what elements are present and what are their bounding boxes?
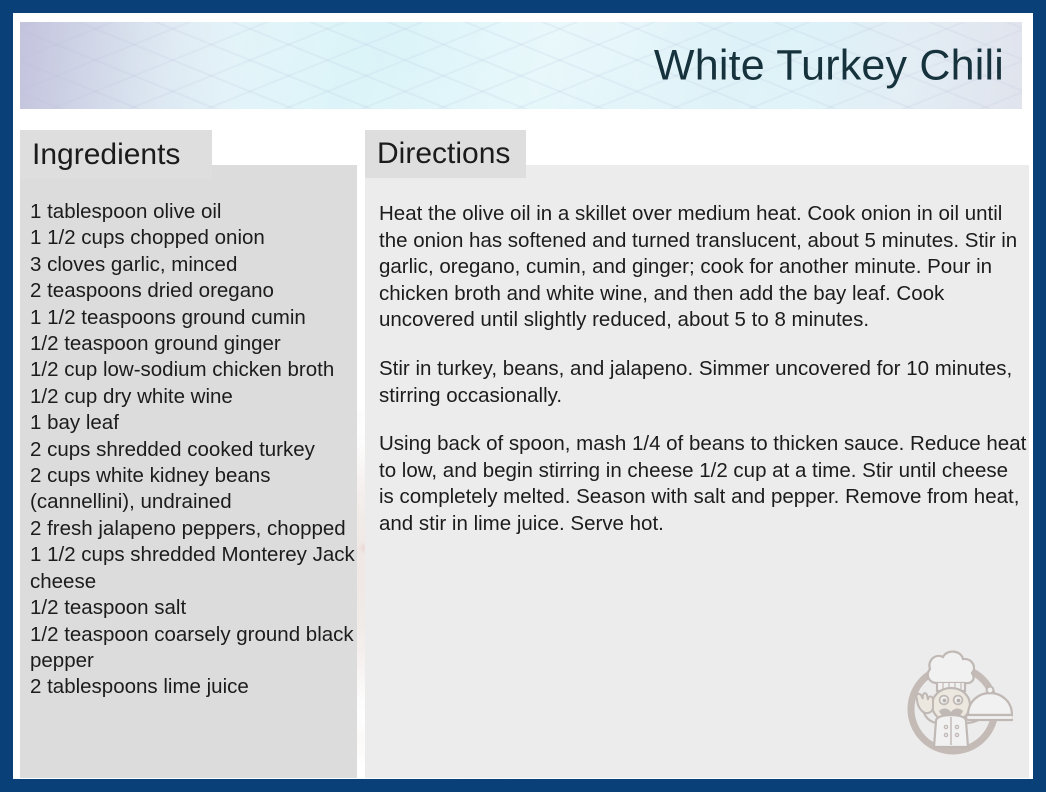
ingredient-item: 1 tablespoon olive oil bbox=[30, 199, 360, 225]
directions-text: Heat the olive oil in a skillet over med… bbox=[379, 201, 1027, 538]
ingredients-list: 1 tablespoon olive oil1 1/2 cups chopped… bbox=[30, 199, 360, 701]
ingredients-heading-box: Ingredients bbox=[20, 130, 212, 179]
page-title: White Turkey Chili bbox=[654, 41, 1004, 90]
direction-paragraph: Using back of spoon, mash 1/4 of beans t… bbox=[379, 431, 1027, 537]
direction-paragraph: Stir in turkey, beans, and jalapeno. Sim… bbox=[379, 356, 1027, 409]
ingredient-item: 1/2 teaspoon ground ginger bbox=[30, 331, 360, 357]
ingredient-item: 1 1/2 teaspoons ground cumin bbox=[30, 305, 360, 331]
ingredient-item: 3 cloves garlic, minced bbox=[30, 252, 360, 278]
recipe-card: White Turkey Chili Ingredients Direction… bbox=[0, 0, 1046, 792]
ingredient-item: 1 bay leaf bbox=[30, 410, 360, 436]
direction-paragraph: Heat the olive oil in a skillet over med… bbox=[379, 201, 1027, 334]
ingredients-heading: Ingredients bbox=[32, 138, 180, 172]
directions-heading-box: Directions bbox=[365, 130, 526, 178]
ingredient-item: 1/2 cup low-sodium chicken broth bbox=[30, 357, 360, 383]
ingredient-item: 1/2 cup dry white wine bbox=[30, 384, 360, 410]
ingredient-item: 1 1/2 cups chopped onion bbox=[30, 225, 360, 251]
ingredient-item: 1/2 teaspoon salt bbox=[30, 595, 360, 621]
ingredient-item: 2 teaspoons dried oregano bbox=[30, 278, 360, 304]
ingredient-item: 2 tablespoons lime juice bbox=[30, 674, 360, 700]
ingredient-item: 2 cups white kidney beans (cannellini), … bbox=[30, 463, 360, 516]
ingredient-item: 2 cups shredded cooked turkey bbox=[30, 437, 360, 463]
directions-heading: Directions bbox=[377, 137, 510, 171]
ingredient-item: 2 fresh jalapeno peppers, chopped bbox=[30, 516, 360, 542]
header-banner: White Turkey Chili bbox=[20, 22, 1022, 109]
ingredient-item: 1 1/2 cups shredded Monterey Jack cheese bbox=[30, 542, 360, 595]
ingredient-item: 1/2 teaspoon coarsely ground black peppe… bbox=[30, 622, 360, 675]
